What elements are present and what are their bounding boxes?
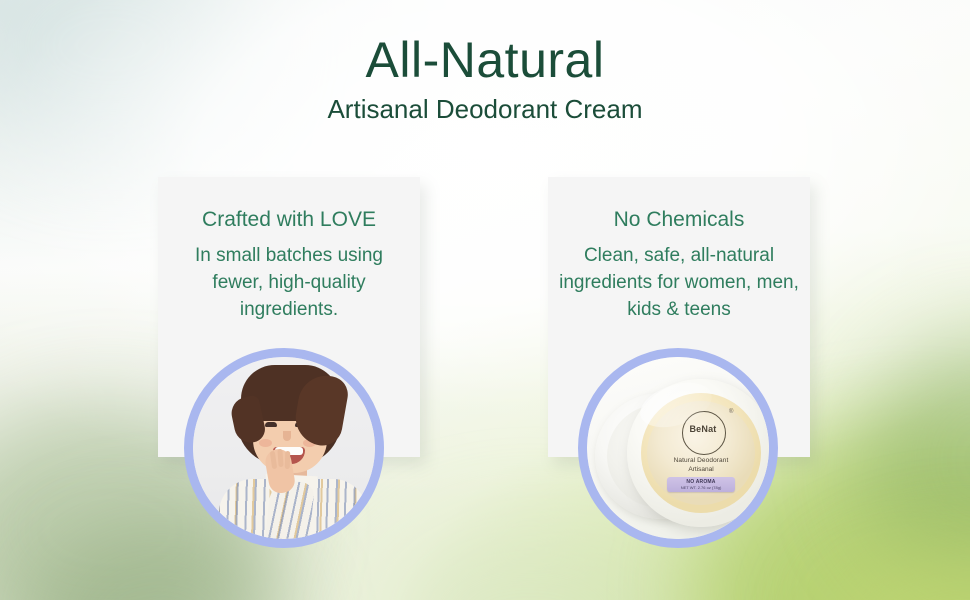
promo-banner: All-Natural Artisanal Deodorant Cream Cr… bbox=[0, 0, 970, 600]
card-body-text: Clean, safe, all-natural ingredients for… bbox=[558, 243, 800, 324]
background-bokeh bbox=[0, 0, 970, 600]
jar-product-descriptor: Artisanal bbox=[647, 466, 755, 473]
jar-label: BeNat ® Natural Deodorant Artisanal NO A… bbox=[647, 401, 755, 505]
card-body-text: In small batches using fewer, high-quali… bbox=[168, 243, 410, 324]
portrait-nose bbox=[283, 431, 291, 441]
card-heading: No Chemicals bbox=[548, 207, 810, 233]
portrait-cheek-left bbox=[259, 439, 272, 447]
registered-trademark-icon: ® bbox=[729, 409, 733, 415]
bokeh-blob-right bbox=[860, 330, 970, 590]
portrait-photo bbox=[193, 357, 375, 539]
product-photo: BeNat ® Natural Deodorant Artisanal NO A… bbox=[587, 357, 769, 539]
portrait-eye-left bbox=[265, 422, 277, 427]
product-circle-frame: BeNat ® Natural Deodorant Artisanal NO A… bbox=[578, 348, 778, 548]
jar-badge-line-2: NET WT. 2.76 oz (78g) bbox=[667, 485, 735, 490]
jar-product-type: Natural Deodorant bbox=[647, 457, 755, 464]
bokeh-blob-corner-right bbox=[820, 540, 970, 600]
portrait-circle-frame bbox=[184, 348, 384, 548]
jar-brand-name: BeNat bbox=[682, 424, 724, 434]
portrait-finger bbox=[285, 451, 291, 469]
jar-aroma-badge: NO AROMA NET WT. 2.76 oz (78g) bbox=[667, 477, 735, 492]
background-white-wash bbox=[0, 0, 970, 600]
page-title: All-Natural bbox=[0, 34, 970, 87]
page-subtitle: Artisanal Deodorant Cream bbox=[0, 94, 970, 125]
background-gradient bbox=[0, 0, 970, 600]
card-heading: Crafted with LOVE bbox=[158, 207, 420, 233]
